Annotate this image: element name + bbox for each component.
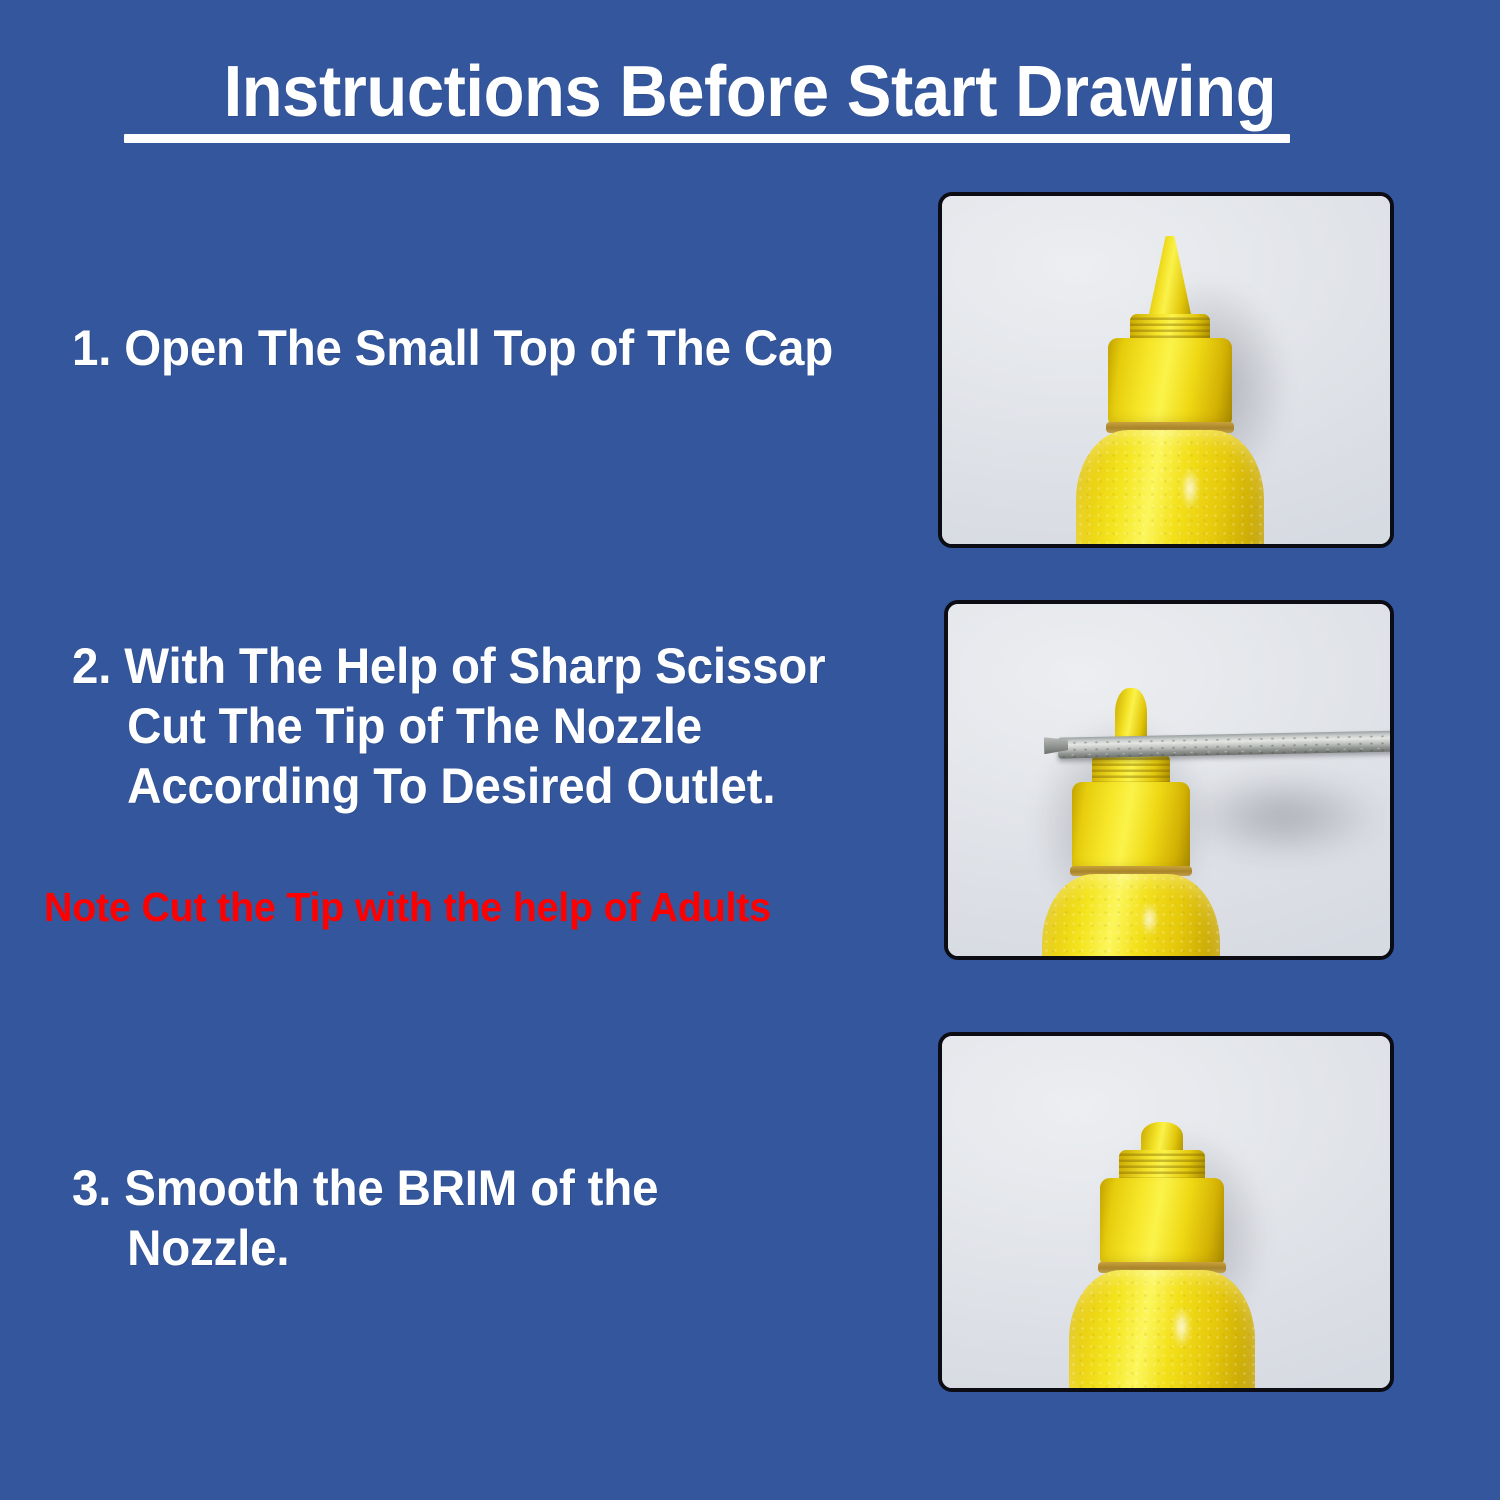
step-2-line-1: 2. With The Help of Sharp Scissor [72,636,825,696]
instruction-poster: Instructions Before Start Drawing 1. Ope… [0,0,1500,1500]
step-2-line-3: According To Desired Outlet. [72,756,825,816]
photo-2-glitter-texture [1042,874,1220,960]
photo-3-glitter-texture [1069,1270,1255,1392]
safety-note: Note Cut the Tip with the help of Adults [44,884,771,930]
photo-3-bottle-body [1069,1270,1255,1392]
steps-column: 1. Open The Small Top of The Cap 2. With… [0,0,930,1500]
photo-3-glue-bottle [938,1036,1382,1388]
photo-step-3 [938,1032,1394,1392]
photo-3-cap [1100,1178,1224,1266]
photo-1-cap [1108,338,1232,426]
photo-1-bottle-body [1076,430,1264,548]
step-3-line-1: 3. Smooth the BRIM of the [72,1158,658,1218]
photo-1-background [942,196,1390,544]
step-1-text: 1. Open The Small Top of The Cap [72,318,833,378]
photo-3-background [942,1036,1390,1388]
step-3-line-2: Nozzle. [72,1218,658,1278]
step-1-line-1: 1. Open The Small Top of The Cap [72,318,833,378]
photo-2-cap [1072,782,1190,872]
photo-2-glue-bottle [944,604,1348,956]
photo-2-bottle-body [1042,874,1220,960]
photo-step-2 [944,600,1394,960]
step-2-line-2: Cut The Tip of The Nozzle [72,696,825,756]
photo-1-glue-bottle [942,196,1390,544]
photo-step-1 [938,192,1394,548]
step-2-text: 2. With The Help of Sharp Scissor Cut Th… [72,636,825,816]
photo-2-background [948,604,1390,956]
photo-1-nozzle-tip [1148,236,1192,326]
photo-1-glitter-texture [1076,430,1264,548]
step-3-text: 3. Smooth the BRIM of the Nozzle. [72,1158,658,1278]
